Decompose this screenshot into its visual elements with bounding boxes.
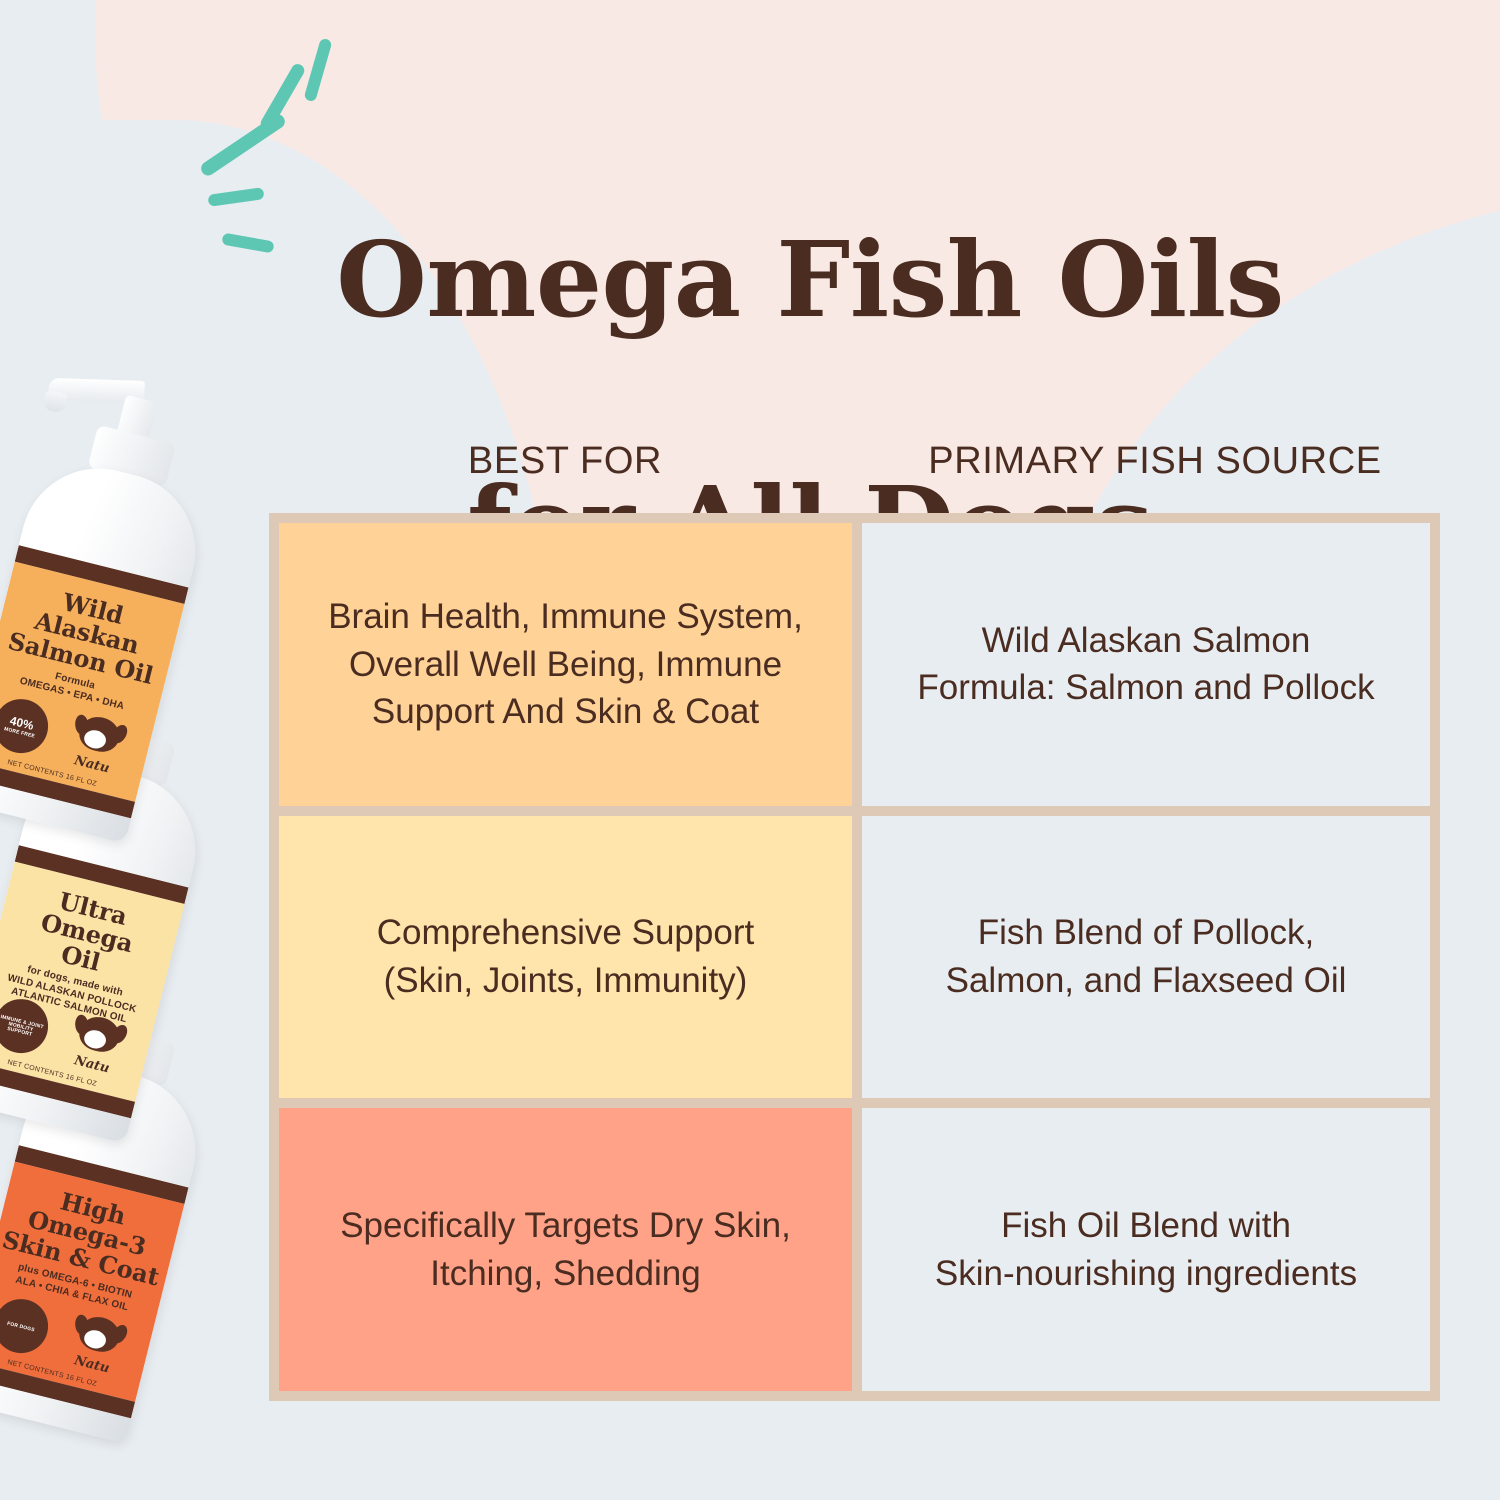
comparison-table: Brain Health, Immune System, Overall Wel… [269,513,1440,1401]
bottle-subtitle: for dogs, made with WILD ALASKAN POLLOCK… [0,957,153,1032]
bottle-subtitle: plus OMEGA-6 • BIOTIN ALA • CHIA & FLAX … [0,1257,153,1320]
pump-dispenser-icon [78,956,202,1089]
bottle-seal-badge: FOR DOGS [0,1297,50,1355]
bottle-subtitle: Formula OMEGAS • EPA • DHA [0,657,153,720]
brand-logo: Natu [63,1011,131,1079]
bottle-net-contents: NET CONTENTS 16 FL OZ [0,1351,130,1396]
bottle-body: High Omega-3 Skin & Coat plus OMEGA-6 • … [0,1052,212,1444]
bottle-net-contents: NET CONTENTS 16 FL OZ [0,1051,130,1096]
table-row: Specifically Targets Dry Skin, Itching, … [279,1108,1430,1391]
dog-snout-icon [82,1328,108,1351]
bottle-title: Ultra Omega Oil [0,877,175,990]
bottle-seal-badge: IMMUNE & JOINT MOBILITY SUPPORT [0,997,50,1055]
cell-fish-source-row-1: Wild Alaskan Salmon Formula: Salmon and … [862,523,1430,806]
bottle-seal-badge: 40% MORE FREE [0,697,50,755]
sparkle-ray-5 [221,233,274,254]
bottle-label: Wild Alaskan Salmon Oil Formula OMEGAS •… [0,545,189,818]
column-header-primary-fish-source: PRIMARY FISH SOURCE [865,440,1445,483]
table-row: Comprehensive Support (Skin, Joints, Imm… [279,816,1430,1099]
brand-logo: Natu [63,711,131,779]
bottle-title: Wild Alaskan Salmon Oil [0,577,175,690]
brand-name: Natu [63,1051,121,1079]
brand-name: Natu [63,751,121,779]
dog-face-icon [76,1013,123,1056]
dog-snout-icon [82,1028,108,1051]
bottle-label: Ultra Omega Oil for dogs, made with WILD… [0,845,189,1118]
cell-best-for-row-3: Specifically Targets Dry Skin, Itching, … [279,1108,852,1391]
cell-fish-source-row-3: Fish Oil Blend with Skin-nourishing ingr… [862,1108,1430,1391]
cell-fish-source-row-2: Fish Blend of Pollock, Salmon, and Flaxs… [862,816,1430,1099]
cell-best-for-row-1: Brain Health, Immune System, Overall Wel… [279,523,852,806]
sparkle-ray-4 [207,187,264,207]
brand-name: Natu [63,1351,121,1379]
badge-sub: MORE FREE [3,727,35,739]
dog-face-icon [76,713,123,756]
bottle-net-contents: NET CONTENTS 16 FL OZ [0,751,130,796]
column-header-best-for: BEST FOR [285,440,845,483]
pump-dispenser-icon [78,656,202,789]
dog-face-icon [76,1313,123,1356]
bottle-label: High Omega-3 Skin & Coat plus OMEGA-6 • … [0,1145,189,1418]
pump-dispenser-icon [78,356,202,489]
badge-main: 40% [9,714,35,731]
cell-best-for-row-2: Comprehensive Support (Skin, Joints, Imm… [279,816,852,1099]
badge-sub: FOR DOGS [7,1321,36,1333]
sparkle-ray-3 [198,112,287,178]
table-row: Brain Health, Immune System, Overall Wel… [279,523,1430,806]
infographic-canvas: Omega Fish Oils for All Dogs BEST FOR PR… [0,0,1500,1500]
bottle-body: Wild Alaskan Salmon Oil Formula OMEGAS •… [0,452,212,844]
sparkle-ray-1 [303,38,332,103]
bottle-body: Ultra Omega Oil for dogs, made with WILD… [0,752,212,1144]
dog-snout-icon [82,728,108,751]
title-line-1: Omega Fish Oils [300,219,1320,342]
brand-logo: Natu [63,1311,131,1379]
badge-sub: IMMUNE & JOINT MOBILITY SUPPORT [0,1014,46,1040]
bottle-title: High Omega-3 Skin & Coat [0,1177,175,1290]
